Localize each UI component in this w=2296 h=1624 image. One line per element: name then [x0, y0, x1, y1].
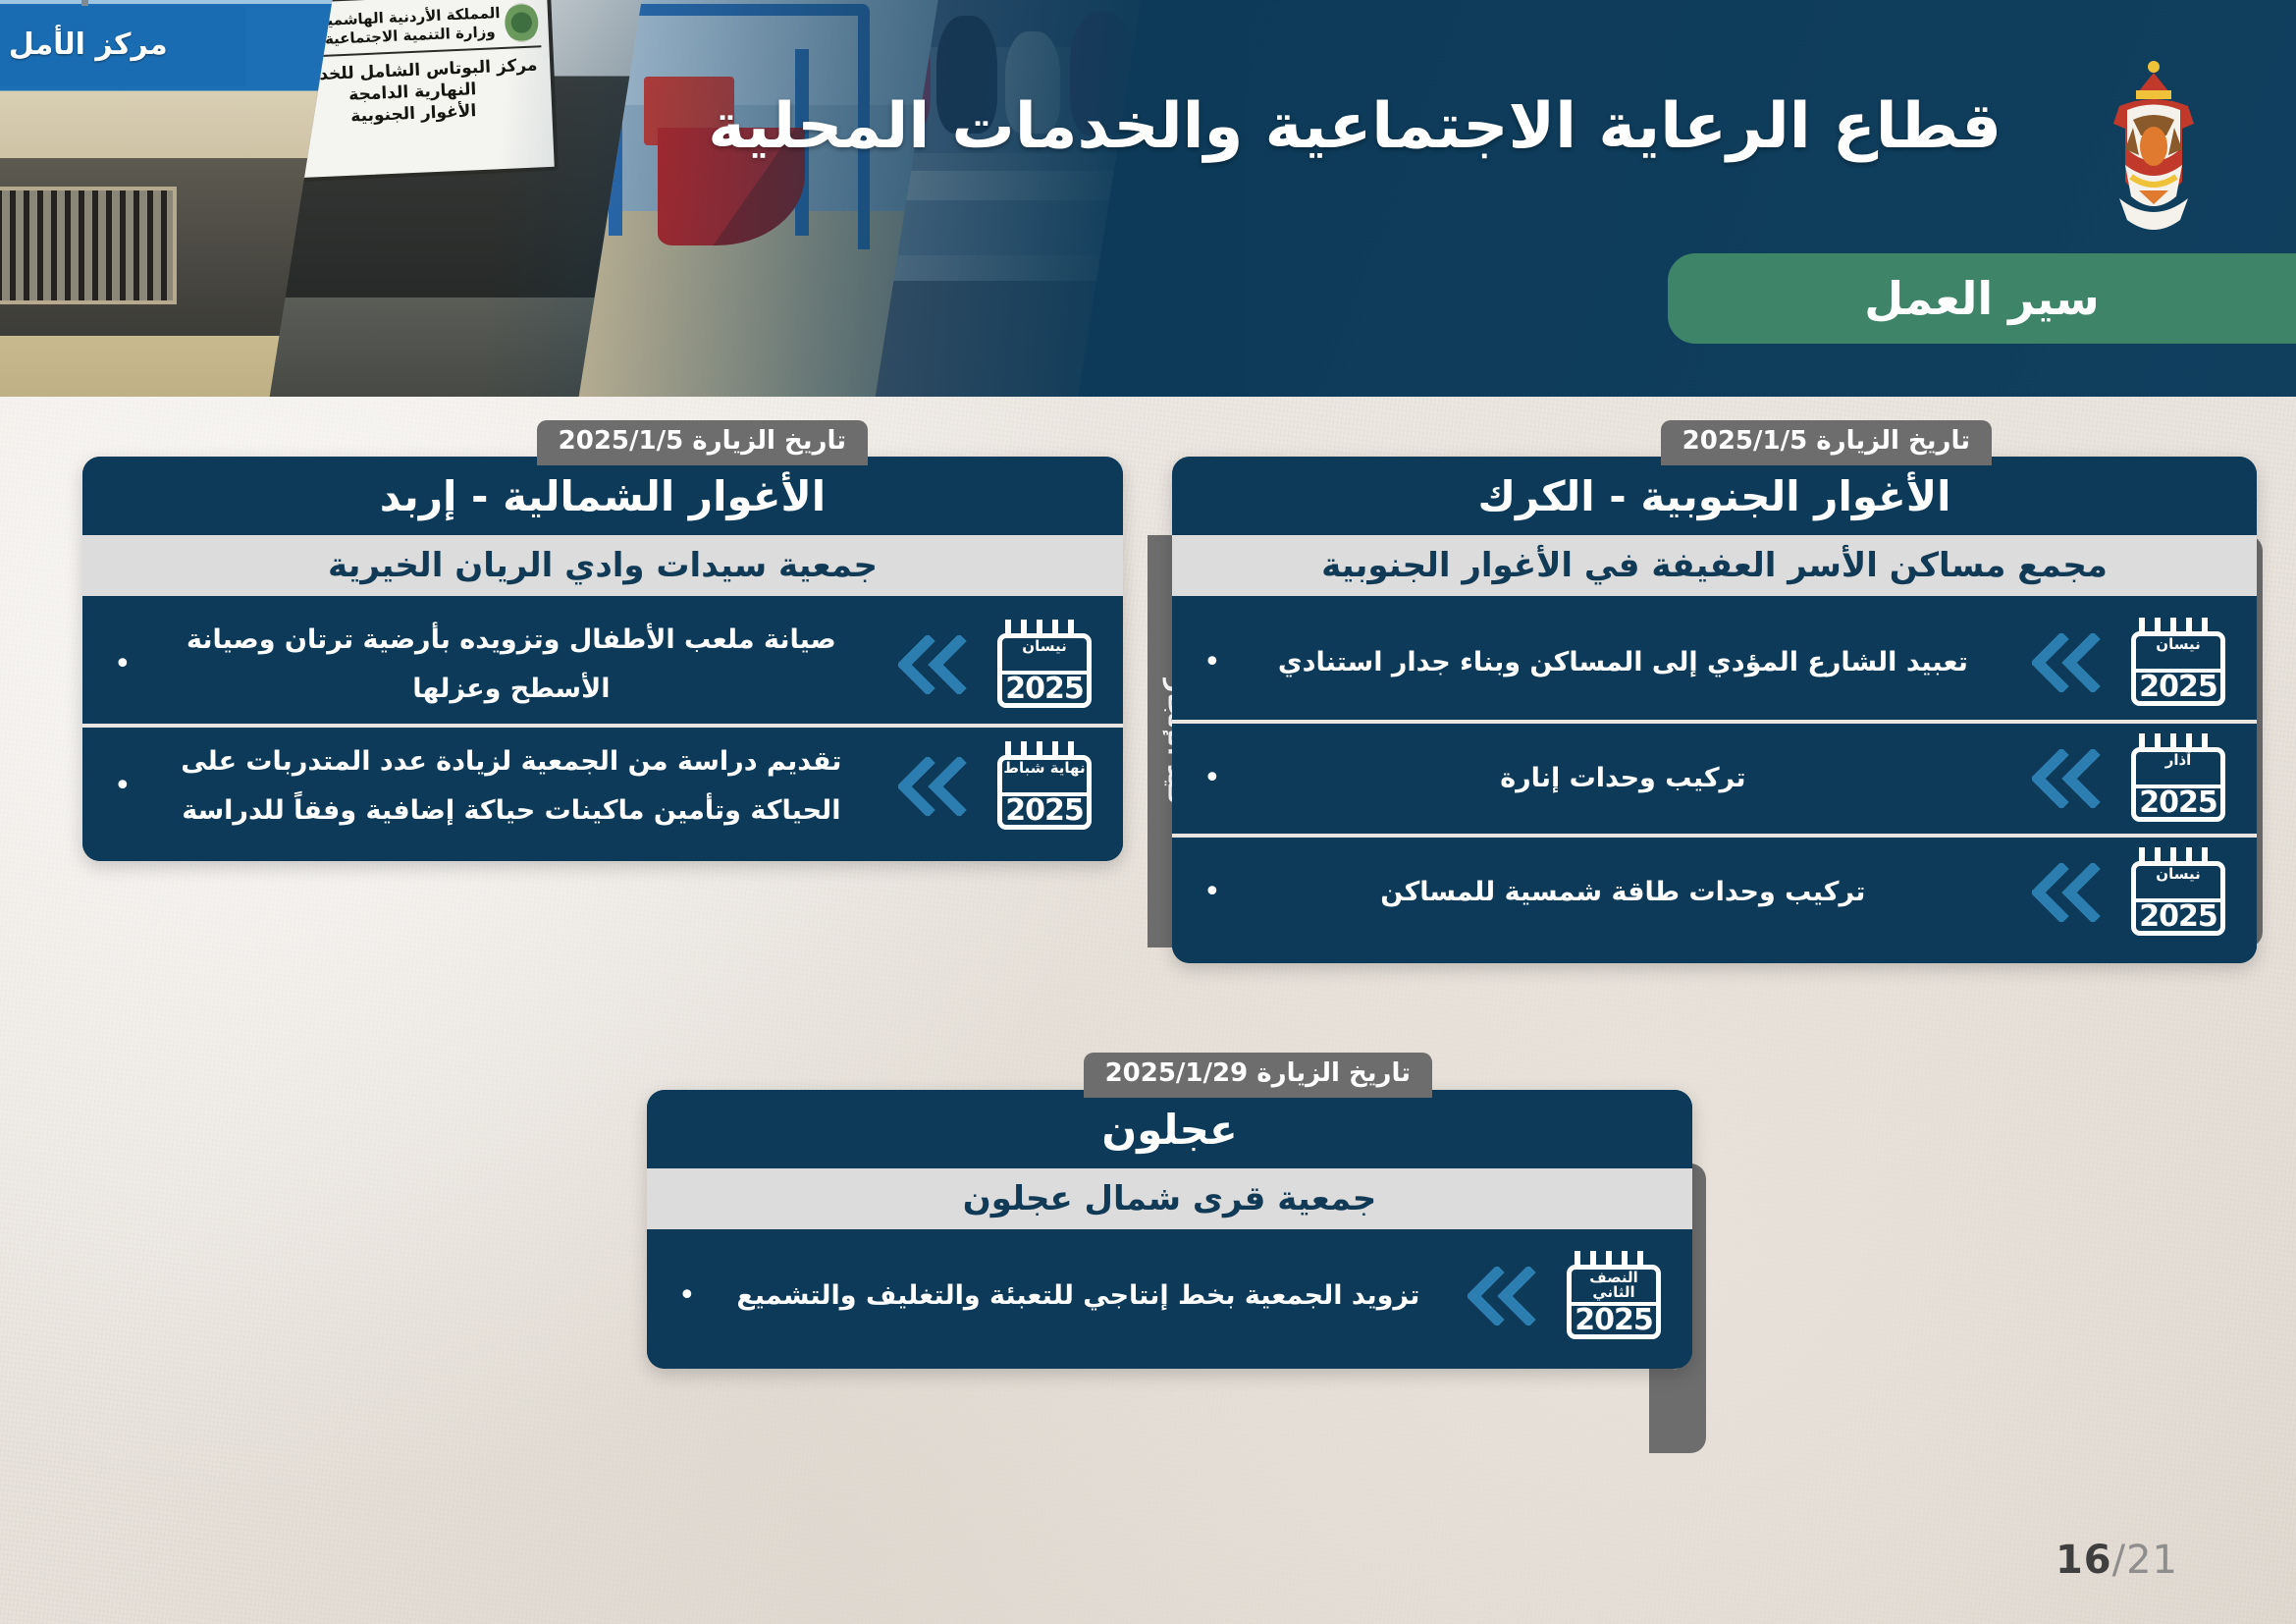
card-subtitle-ajloun: جمعية قرى شمال عجلون — [647, 1168, 1692, 1229]
calendar-year: 2025 — [1567, 1306, 1661, 1335]
calendar-icon: نيسان 2025 — [2125, 618, 2231, 708]
photo-fade-overlay — [0, 0, 1247, 397]
list-item[interactable]: • تقديم دراسة من الجمعية لزيادة عدد المت… — [82, 724, 1123, 845]
double-chevron-left-icon — [2019, 863, 2113, 922]
double-chevron-left-icon — [885, 757, 980, 816]
card-irbid[interactable]: الأغوار الشمالية - إربد جمعية سيدات وادي… — [82, 457, 1123, 861]
calendar-year: 2025 — [997, 675, 1092, 704]
visit-date-badge-irbid: تاريخ الزيارة 2025/1/5 — [537, 420, 868, 465]
bullet-icon: • — [1203, 764, 1221, 793]
calendar-year: 2025 — [2131, 902, 2225, 932]
card-karak[interactable]: الأغوار الجنوبية - الكرك مجمع مساكن الأس… — [1172, 457, 2257, 963]
item-text: صيانة ملعب الأطفال وتزويده بأرضية ترتان … — [137, 612, 885, 718]
page-total: 21 — [2126, 1538, 2178, 1583]
page-current: 16 — [2056, 1538, 2112, 1583]
item-text: تقديم دراسة من الجمعية لزيادة عدد المتدر… — [137, 733, 885, 839]
item-text: تعبيد الشارع المؤدي إلى المساكن وبناء جد… — [1227, 634, 2019, 691]
card-body-irbid: • صيانة ملعب الأطفال وتزويده بأرضية ترتا… — [82, 596, 1123, 861]
calendar-icon: آذار 2025 — [2125, 733, 2231, 824]
slide-canvas: مركز الأمل الجديد المملكة الأردنية الهاش… — [0, 0, 2296, 1624]
calendar-icon: النصف الثاني 2025 — [1561, 1251, 1667, 1341]
card-subtitle-karak: مجمع مساكن الأسر العفيفة في الأغوار الجن… — [1172, 535, 2257, 596]
page-separator: / — [2112, 1538, 2126, 1583]
double-chevron-left-icon — [2019, 749, 2113, 808]
calendar-month: آذار — [2131, 753, 2225, 768]
calendar-year: 2025 — [997, 796, 1092, 826]
calendar-icon: نيسان 2025 — [2125, 847, 2231, 938]
header-photo-montage: مركز الأمل الجديد المملكة الأردنية الهاش… — [0, 0, 1247, 397]
calendar-month: نيسان — [2131, 637, 2225, 652]
calendar-month: نهاية شباط — [997, 761, 1092, 776]
page-number: 16/21 — [2056, 1538, 2178, 1583]
item-text: تركيب وحدات طاقة شمسية للمساكن — [1227, 864, 2019, 921]
card-body-karak: • تعبيد الشارع المؤدي إلى المساكن وبناء … — [1172, 596, 2257, 963]
card-ajloun[interactable]: عجلون جمعية قرى شمال عجلون • تزويد الجمع… — [647, 1090, 1692, 1369]
bullet-icon: • — [678, 1281, 696, 1311]
card-title-irbid: الأغوار الشمالية - إربد — [82, 457, 1123, 535]
list-item[interactable]: • تزويد الجمعية بخط إنتاجي للتعبئة والتغ… — [647, 1239, 1692, 1353]
bullet-icon: • — [1203, 648, 1221, 677]
calendar-icon: نهاية شباط 2025 — [991, 741, 1097, 832]
visit-date-badge-ajloun: تاريخ الزيارة 2025/1/29 — [1084, 1053, 1432, 1098]
jordan-coat-of-arms-icon — [2090, 51, 2217, 238]
visit-date-badge-karak: تاريخ الزيارة 2025/1/5 — [1661, 420, 1992, 465]
card-title-karak: الأغوار الجنوبية - الكرك — [1172, 457, 2257, 535]
bullet-icon: • — [1203, 878, 1221, 907]
list-item[interactable]: • تركيب وحدات طاقة شمسية للمساكن نيسان 2… — [1172, 834, 2257, 947]
bullet-icon: • — [114, 650, 132, 679]
list-item[interactable]: • تركيب وحدات إنارة آذار 2025 — [1172, 720, 2257, 834]
workflow-banner: سير العمل — [1668, 253, 2296, 344]
card-subtitle-irbid: جمعية سيدات وادي الريان الخيرية — [82, 535, 1123, 596]
calendar-year: 2025 — [2131, 673, 2225, 702]
double-chevron-left-icon — [2019, 633, 2113, 692]
double-chevron-left-icon — [885, 635, 980, 694]
list-item[interactable]: • تعبيد الشارع المؤدي إلى المساكن وبناء … — [1172, 606, 2257, 720]
bullet-icon: • — [114, 772, 132, 801]
card-body-ajloun: • تزويد الجمعية بخط إنتاجي للتعبئة والتغ… — [647, 1229, 1692, 1369]
double-chevron-left-icon — [1455, 1267, 1549, 1326]
calendar-month: النصف الثاني — [1567, 1271, 1661, 1300]
item-text: تزويد الجمعية بخط إنتاجي للتعبئة والتغلي… — [702, 1268, 1455, 1325]
calendar-year: 2025 — [2131, 788, 2225, 818]
page-title: قطاع الرعاية الاجتماعية والخدمات المحلية — [708, 90, 2002, 163]
item-text: تركيب وحدات إنارة — [1227, 750, 2019, 807]
calendar-icon: نيسان 2025 — [991, 620, 1097, 710]
calendar-month: نيسان — [997, 639, 1092, 654]
card-title-ajloun: عجلون — [647, 1090, 1692, 1168]
calendar-month: نيسان — [2131, 867, 2225, 882]
list-item[interactable]: • صيانة ملعب الأطفال وتزويده بأرضية ترتا… — [82, 606, 1123, 724]
